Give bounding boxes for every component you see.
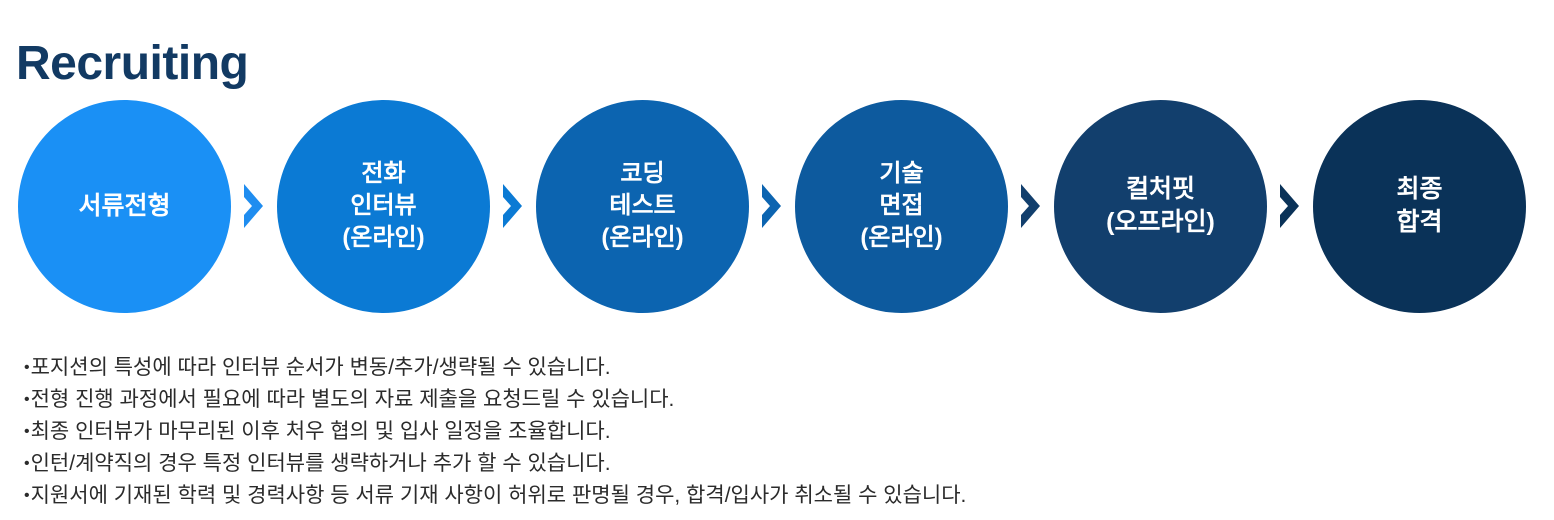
- note-item: •지원서에 기재된 학력 및 경력사항 등 서류 기재 사항이 허위로 판명될 …: [24, 480, 1524, 512]
- note-item: •포지션의 특성에 따라 인터뷰 순서가 변동/추가/생략될 수 있습니다.: [24, 352, 1524, 384]
- stage-label-phone-interview: 전화 인터뷰 (온라인): [334, 158, 432, 253]
- chevron-right-icon: [1008, 175, 1054, 237]
- note-text: 포지션의 특성에 따라 인터뷰 순서가 변동/추가/생략될 수 있습니다.: [31, 352, 611, 384]
- bullet-icon: •: [24, 456, 30, 472]
- note-item: •최종 인터뷰가 마무리된 이후 처우 협의 및 입사 일정을 조율합니다.: [24, 416, 1524, 448]
- page-title: Recruiting: [16, 34, 248, 94]
- chevron-right-icon: [1267, 175, 1313, 237]
- stage-label-final-pass: 최종 합격: [1388, 173, 1450, 239]
- stage-circle-coding-test[interactable]: 코딩 테스트 (온라인): [536, 100, 749, 313]
- recruiting-process-flow: 서류전형전화 인터뷰 (온라인)코딩 테스트 (온라인)기술 면접 (온라인)컬…: [18, 96, 1538, 316]
- chevron-right-icon: [231, 175, 277, 237]
- chevron-right-icon: [749, 175, 795, 237]
- bullet-icon: •: [24, 488, 30, 504]
- stage-label-coding-test: 코딩 테스트 (온라인): [593, 158, 691, 253]
- stage-circle-culture-fit[interactable]: 컬처핏 (오프라인): [1054, 100, 1267, 313]
- note-text: 전형 진행 과정에서 필요에 따라 별도의 자료 제출을 요청드릴 수 있습니다…: [31, 384, 675, 416]
- chevron-right-icon: [490, 175, 536, 237]
- note-text: 인턴/계약직의 경우 특정 인터뷰를 생략하거나 추가 할 수 있습니다.: [31, 448, 611, 480]
- stage-circle-tech-interview[interactable]: 기술 면접 (온라인): [795, 100, 1008, 313]
- stage-label-tech-interview: 기술 면접 (온라인): [852, 158, 950, 253]
- bullet-icon: •: [24, 360, 30, 376]
- note-text: 최종 인터뷰가 마무리된 이후 처우 협의 및 입사 일정을 조율합니다.: [31, 416, 611, 448]
- note-text: 지원서에 기재된 학력 및 경력사항 등 서류 기재 사항이 허위로 판명될 경…: [31, 480, 967, 512]
- stage-circle-phone-interview[interactable]: 전화 인터뷰 (온라인): [277, 100, 490, 313]
- notes-list: •포지션의 특성에 따라 인터뷰 순서가 변동/추가/생략될 수 있습니다.•전…: [24, 352, 1524, 512]
- stage-circle-final-pass[interactable]: 최종 합격: [1313, 100, 1526, 313]
- bullet-icon: •: [24, 424, 30, 440]
- bullet-icon: •: [24, 392, 30, 408]
- note-item: •전형 진행 과정에서 필요에 따라 별도의 자료 제출을 요청드릴 수 있습니…: [24, 384, 1524, 416]
- stage-label-document-screening: 서류전형: [70, 190, 178, 223]
- stage-label-culture-fit: 컬처핏 (오프라인): [1098, 173, 1223, 239]
- stage-circle-document-screening[interactable]: 서류전형: [18, 100, 231, 313]
- note-item: •인턴/계약직의 경우 특정 인터뷰를 생략하거나 추가 할 수 있습니다.: [24, 448, 1524, 480]
